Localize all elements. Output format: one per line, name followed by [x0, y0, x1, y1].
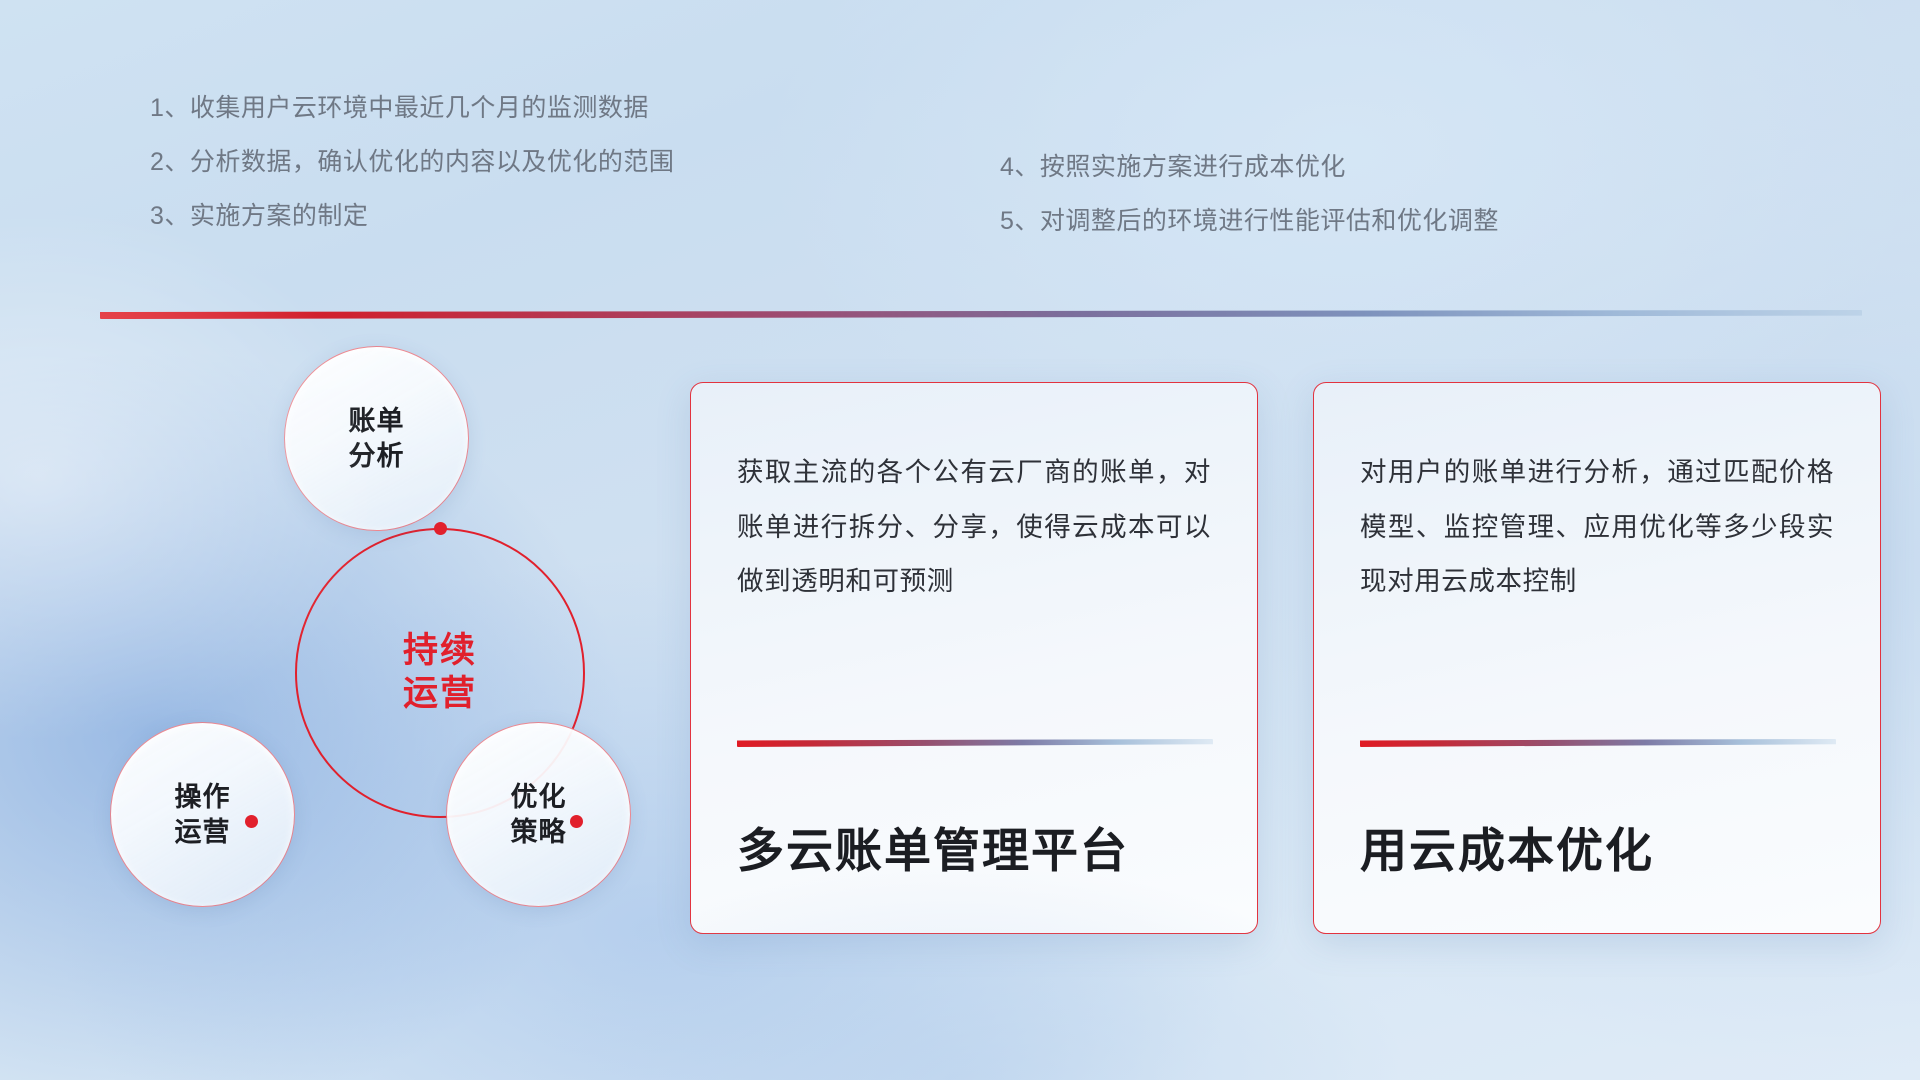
step-item: 4、按照实施方案进行成本优化 [1000, 155, 1720, 180]
venn-diagram: 持续 运营 账单 分析 操作 运营 优化 策略 [98, 352, 638, 952]
bubble-label-line-2: 分析 [349, 439, 405, 473]
venn-bubble-optimization-strategy[interactable]: 优化 策略 [446, 722, 631, 907]
bubble-label-line-1: 优化 [511, 780, 567, 814]
bubble-label-line-2: 运营 [175, 815, 231, 849]
card-accent-rule [737, 739, 1213, 747]
step-item: 2、分析数据，确认优化的内容以及优化的范围 [150, 150, 870, 175]
steps-list-right: 4、按照实施方案进行成本优化 5、对调整后的环境进行性能评估和优化调整 [1000, 155, 1720, 263]
section-divider [100, 310, 1862, 319]
connector-dot-icon [434, 522, 447, 535]
slide-canvas: 1、收集用户云环境中最近几个月的监测数据 2、分析数据，确认优化的内容以及优化的… [0, 0, 1920, 1080]
venn-center-line-1: 持续 [403, 630, 477, 673]
feature-card-multicloud-billing[interactable]: 获取主流的各个公有云厂商的账单，对账单进行拆分、分享，使得云成本可以做到透明和可… [690, 382, 1258, 934]
venn-bubble-operations[interactable]: 操作 运营 [110, 722, 295, 907]
connector-dot-icon [245, 815, 258, 828]
card-accent-rule [1360, 739, 1836, 747]
card-title: 多云账单管理平台 [737, 812, 1129, 881]
steps-list-left: 1、收集用户云环境中最近几个月的监测数据 2、分析数据，确认优化的内容以及优化的… [150, 96, 870, 258]
card-title: 用云成本优化 [1360, 812, 1654, 881]
feature-card-group: 获取主流的各个公有云厂商的账单，对账单进行拆分、分享，使得云成本可以做到透明和可… [690, 382, 1881, 934]
step-item: 1、收集用户云环境中最近几个月的监测数据 [150, 96, 870, 121]
bubble-label-line-1: 账单 [349, 404, 405, 438]
venn-bubble-billing-analysis[interactable]: 账单 分析 [284, 346, 469, 531]
venn-center-line-2: 运营 [403, 673, 477, 716]
card-description: 对用户的账单进行分析，通过匹配价格模型、监控管理、应用优化等多少段实现对用云成本… [1360, 445, 1834, 609]
step-item: 3、实施方案的制定 [150, 204, 870, 229]
step-item: 5、对调整后的环境进行性能评估和优化调整 [1000, 209, 1720, 234]
card-description: 获取主流的各个公有云厂商的账单，对账单进行拆分、分享，使得云成本可以做到透明和可… [737, 445, 1211, 609]
bubble-label-line-1: 操作 [175, 780, 231, 814]
bubble-label-line-2: 策略 [511, 815, 567, 849]
feature-card-cost-optimization[interactable]: 对用户的账单进行分析，通过匹配价格模型、监控管理、应用优化等多少段实现对用云成本… [1313, 382, 1881, 934]
connector-dot-icon [570, 815, 583, 828]
